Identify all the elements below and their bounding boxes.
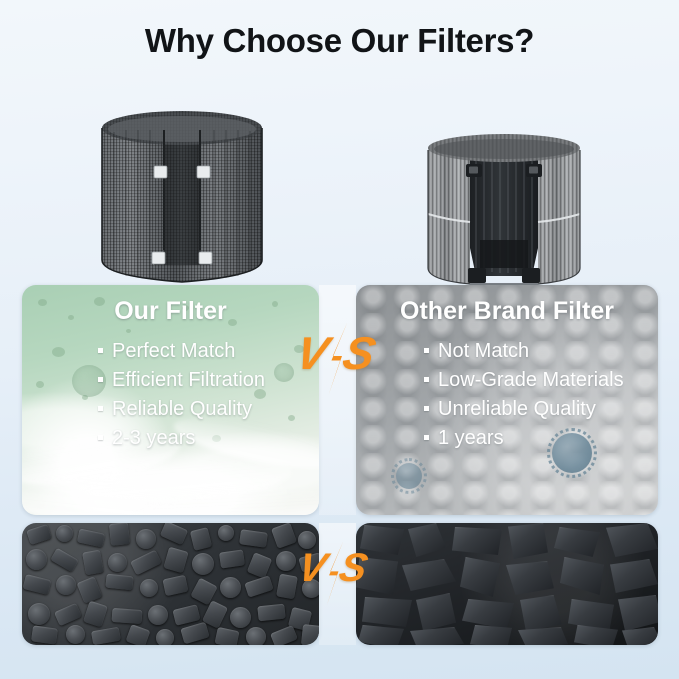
square-bullet-icon: [98, 435, 103, 440]
list-item-label: 1 years: [438, 427, 504, 449]
square-bullet-icon: [424, 406, 429, 411]
list-item: Efficient Filtration: [98, 366, 319, 395]
our-filter-cylinder-photo: [92, 100, 272, 290]
panel-gap-top: [319, 285, 356, 515]
list-item-label: Perfect Match: [112, 340, 235, 362]
other-brand-filter-photo: [414, 128, 594, 293]
infographic-page: Why Choose Our Filters?: [0, 0, 679, 679]
raw-charcoal-chunks-photo: [356, 523, 658, 645]
list-item: Perfect Match: [98, 337, 319, 366]
other-brand-panel-content: Other Brand Filter Not Match Low-Grade M…: [356, 285, 658, 515]
our-filter-bullet-list: Perfect Match Efficient Filtration Relia…: [22, 337, 319, 453]
square-bullet-icon: [98, 406, 103, 411]
vs-badge-bottom: VS: [299, 548, 375, 602]
list-item-label: Low-Grade Materials: [438, 369, 624, 391]
page-title: Why Choose Our Filters?: [0, 22, 679, 60]
vs-letter-v: V: [292, 330, 332, 376]
our-filter-panel: Our Filter Perfect Match Efficient Filtr…: [22, 285, 319, 515]
other-brand-bullet-list: Not Match Low-Grade Materials Unreliable…: [356, 337, 658, 453]
square-bullet-icon: [98, 348, 103, 353]
our-filter-heading: Our Filter: [22, 297, 319, 326]
square-bullet-icon: [424, 435, 429, 440]
activated-carbon-pellets-photo: [22, 523, 319, 645]
other-brand-filter-heading: Other Brand Filter: [356, 297, 658, 326]
list-item-label: Efficient Filtration: [112, 369, 265, 391]
vs-letter-v: V: [295, 548, 330, 588]
list-item: Reliable Quality: [98, 395, 319, 424]
list-item-label: 2-3 years: [112, 427, 195, 449]
vs-letter-s: S: [335, 548, 370, 588]
vs-letter-s: S: [339, 330, 379, 376]
charcoal-chunk-texture: [356, 523, 658, 645]
vs-badge-top: VS: [297, 330, 381, 390]
carbon-pellet-texture: [22, 523, 319, 645]
list-item: Unreliable Quality: [424, 395, 658, 424]
square-bullet-icon: [424, 348, 429, 353]
list-item: Not Match: [424, 337, 658, 366]
our-filter-panel-content: Our Filter Perfect Match Efficient Filtr…: [22, 285, 319, 515]
square-bullet-icon: [98, 377, 103, 382]
list-item: 1 years: [424, 424, 658, 453]
square-bullet-icon: [424, 377, 429, 382]
list-item: 2-3 years: [98, 424, 319, 453]
list-item: Low-Grade Materials: [424, 366, 658, 395]
list-item-label: Not Match: [438, 340, 529, 362]
list-item-label: Unreliable Quality: [438, 398, 596, 420]
other-brand-filter-panel: Other Brand Filter Not Match Low-Grade M…: [356, 285, 658, 515]
list-item-label: Reliable Quality: [112, 398, 252, 420]
